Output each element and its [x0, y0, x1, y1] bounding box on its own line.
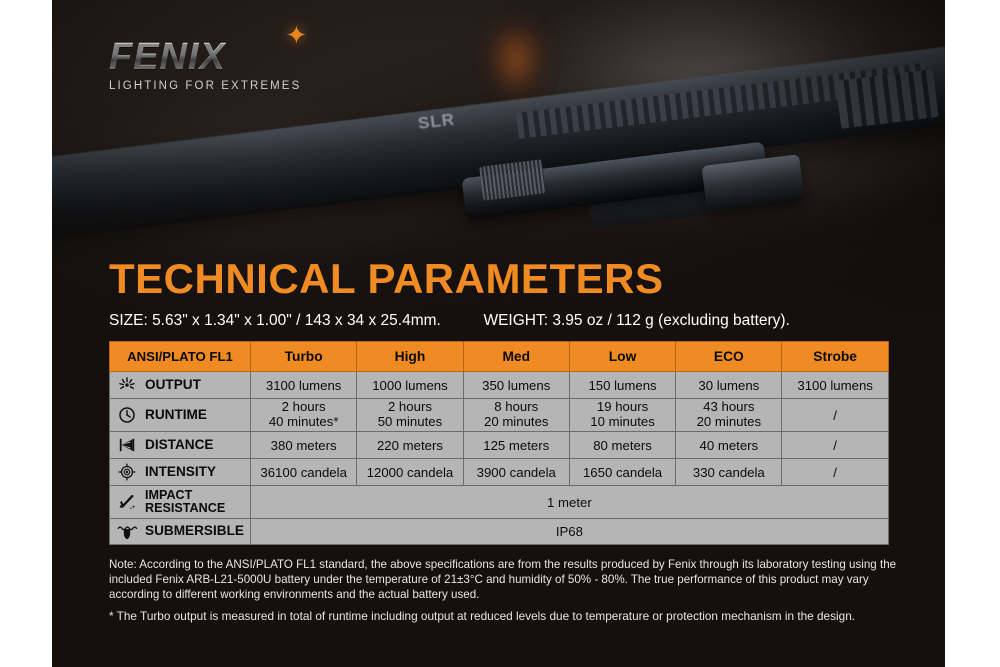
row-label-distance: DISTANCE	[110, 432, 251, 459]
row-label-output: OUTPUT	[110, 372, 251, 399]
table-body: OUTPUT 3100 lumens 1000 lumens 350 lumen…	[110, 372, 889, 545]
column-header-strobe: Strobe	[782, 342, 888, 372]
table-row-output: OUTPUT 3100 lumens 1000 lumens 350 lumen…	[110, 372, 889, 399]
ansi-note-text: Note: According to the ANSI/PLATO FL1 st…	[109, 558, 899, 602]
cell-runtime-high: 2 hours50 minutes	[357, 399, 463, 432]
cell-distance-strobe: /	[782, 432, 888, 459]
row-label-text: DISTANCE	[145, 438, 213, 452]
dimensions-line: SIZE: 5.63" x 1.34" x 1.00" / 143 x 34 x…	[109, 312, 790, 330]
page-title: TECHNICAL PARAMETERS	[109, 258, 663, 300]
cell-runtime-eco: 43 hours20 minutes	[676, 399, 782, 432]
size-label: SIZE: 5.63" x 1.34" x 1.00" / 143 x 34 x…	[109, 312, 441, 329]
table-row-intensity: INTENSITY 36100 candela 12000 candela 39…	[110, 459, 889, 486]
cell-output-high: 1000 lumens	[357, 372, 463, 399]
cell-output-turbo: 3100 lumens	[251, 372, 357, 399]
cell-runtime-med: 8 hours20 minutes	[463, 399, 569, 432]
column-header-high: High	[357, 342, 463, 372]
logo-wordmark: FENIX	[109, 38, 226, 76]
column-header-standard: ANSI/PLATO FL1	[110, 342, 251, 372]
column-header-low: Low	[569, 342, 675, 372]
table-row-distance: DISTANCE 380 meters 220 meters 125 meter…	[110, 432, 889, 459]
cell-distance-low: 80 meters	[569, 432, 675, 459]
clock-icon	[116, 405, 138, 425]
cell-submersible-value: IP68	[251, 519, 889, 545]
cell-distance-turbo: 380 meters	[251, 432, 357, 459]
logo-wordmark-row: FENIX ✦	[109, 38, 301, 76]
technical-parameters-table: ANSI/PLATO FL1 Turbo High Med Low ECO St…	[109, 341, 889, 545]
star-icon: ✦	[283, 22, 309, 48]
beam-distance-icon	[116, 435, 138, 455]
row-label-text: OUTPUT	[145, 378, 201, 392]
row-label-intensity: INTENSITY	[110, 459, 251, 486]
brand-logo: FENIX ✦ LIGHTING FOR EXTREMES	[109, 38, 301, 92]
cell-intensity-low: 1650 candela	[569, 459, 675, 486]
cell-output-eco: 30 lumens	[676, 372, 782, 399]
cell-distance-high: 220 meters	[357, 432, 463, 459]
column-header-turbo: Turbo	[251, 342, 357, 372]
row-label-runtime: RUNTIME	[110, 399, 251, 432]
cell-intensity-eco: 330 candela	[676, 459, 782, 486]
table-row-submersible: SUBMERSIBLE IP68	[110, 519, 889, 545]
poster-canvas: SLR FENIX ✦ LIGHTING FOR EXTREMES TECHNI…	[0, 0, 1000, 667]
impact-resistance-icon	[116, 492, 138, 512]
table-header: ANSI/PLATO FL1 Turbo High Med Low ECO St…	[110, 342, 889, 372]
row-label-text: RUNTIME	[145, 408, 207, 422]
row-label-text: SUBMERSIBLE	[145, 524, 244, 538]
cell-intensity-turbo: 36100 candela	[251, 459, 357, 486]
cell-intensity-med: 3900 candela	[463, 459, 569, 486]
cell-distance-med: 125 meters	[463, 432, 569, 459]
turbo-footnote-text: * The Turbo output is measured in total …	[109, 609, 929, 623]
cell-distance-eco: 40 meters	[676, 432, 782, 459]
table-header-row: ANSI/PLATO FL1 Turbo High Med Low ECO St…	[110, 342, 889, 372]
table-row-impact-resistance: IMPACTRESISTANCE 1 meter	[110, 486, 889, 519]
cell-impact-resistance-value: 1 meter	[251, 486, 889, 519]
row-label-text: INTENSITY	[145, 465, 216, 479]
table-row-runtime: RUNTIME 2 hours40 minutes* 2 hours50 min…	[110, 399, 889, 432]
cell-intensity-strobe: /	[782, 459, 888, 486]
row-label-text: IMPACTRESISTANCE	[145, 489, 225, 515]
submersible-icon	[116, 522, 138, 542]
weight-label: WEIGHT: 3.95 oz / 112 g (excluding batte…	[483, 312, 789, 329]
cell-output-strobe: 3100 lumens	[782, 372, 888, 399]
cell-intensity-high: 12000 candela	[357, 459, 463, 486]
cell-runtime-turbo: 2 hours40 minutes*	[251, 399, 357, 432]
cell-runtime-strobe: /	[782, 399, 888, 432]
row-label-impact-resistance: IMPACTRESISTANCE	[110, 486, 251, 519]
row-label-submersible: SUBMERSIBLE	[110, 519, 251, 545]
target-intensity-icon	[116, 462, 138, 482]
poster-panel: SLR FENIX ✦ LIGHTING FOR EXTREMES TECHNI…	[52, 0, 945, 667]
cell-output-med: 350 lumens	[463, 372, 569, 399]
column-header-med: Med	[463, 342, 569, 372]
cell-output-low: 150 lumens	[569, 372, 675, 399]
column-header-eco: ECO	[676, 342, 782, 372]
logo-tagline: LIGHTING FOR EXTREMES	[109, 80, 301, 92]
sunburst-icon	[116, 375, 138, 395]
cell-runtime-low: 19 hours10 minutes	[569, 399, 675, 432]
